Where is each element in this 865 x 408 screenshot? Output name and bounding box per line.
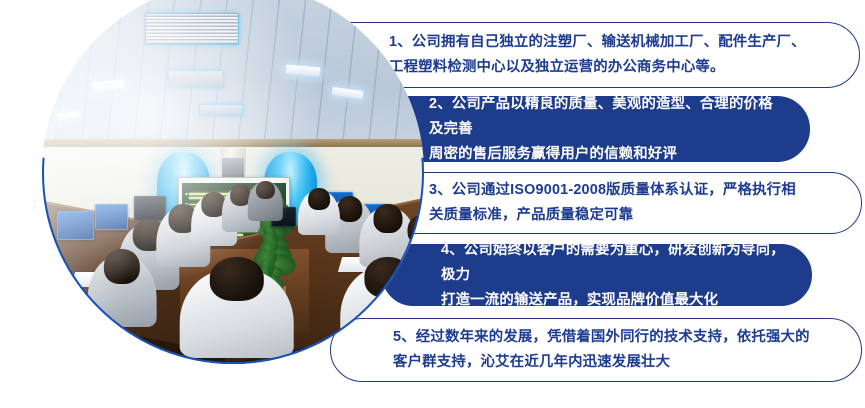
seated-person	[248, 181, 282, 231]
person-head	[308, 188, 330, 210]
seated-person	[340, 257, 424, 364]
person-head	[210, 257, 264, 301]
company-advantages-infographic: 1、公司拥有自己独立的注塑厂、输送机械加工厂、配件生产厂、 工程塑料检测中心以及…	[0, 0, 865, 408]
person-head	[256, 181, 274, 200]
seated-person	[88, 249, 157, 341]
person-head	[364, 257, 411, 298]
person-head	[408, 215, 424, 245]
ceiling-air-vent-icon	[168, 70, 223, 88]
desk-monitor	[57, 211, 93, 240]
slide-bullet	[185, 193, 188, 196]
person-head	[104, 249, 140, 284]
seated-person	[180, 257, 295, 364]
photo-wrapper	[0, 0, 865, 408]
photo-scene	[42, 0, 424, 364]
company-conference-room-photo	[42, 0, 424, 364]
ceiling-air-vent-icon	[199, 104, 243, 116]
wall-trim	[42, 139, 424, 147]
ceiling-air-vent-icon	[145, 13, 239, 46]
seated-person	[298, 188, 340, 245]
